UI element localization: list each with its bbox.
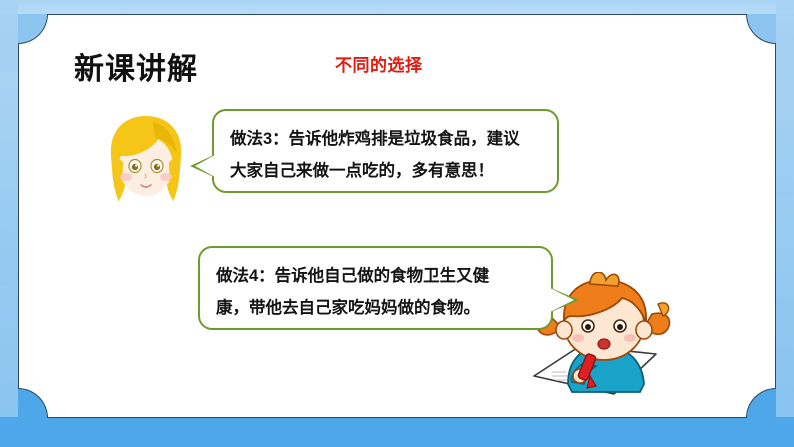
page-title: 新课讲解 bbox=[74, 44, 198, 88]
section-label: 不同的选择 bbox=[335, 51, 423, 76]
speech-bubble-option-4[interactable]: 做法4：告诉他自己做的食物卫生又健 康，带他去自己家吃妈妈做的食物。 bbox=[198, 246, 553, 330]
speech-bubble-option-3[interactable]: 做法3：告诉他炸鸡排是垃圾食品，建议 大家自己来做一点吃的，多有意思！ bbox=[212, 109, 559, 193]
bubble-option-4-line-1: 做法4：告诉他自己做的食物卫生又健 bbox=[216, 260, 535, 292]
bubble-option-3-line-2: 大家自己来做一点吃的，多有意思！ bbox=[230, 155, 541, 187]
bubble-tail-right-fill bbox=[550, 288, 574, 312]
slide-content: 新课讲解 不同的选择 bbox=[0, 0, 794, 447]
slide-canvas: 新课讲解 不同的选择 bbox=[0, 0, 794, 447]
blonde-girl-face-illustration bbox=[103, 112, 189, 208]
bubble-tail-left-fill bbox=[195, 155, 215, 177]
bubble-option-4-line-2: 康，带他去自己家吃妈妈做的食物。 bbox=[216, 292, 535, 324]
bubble-option-3-line-1: 做法3：告诉他炸鸡排是垃圾食品，建议 bbox=[230, 123, 541, 155]
